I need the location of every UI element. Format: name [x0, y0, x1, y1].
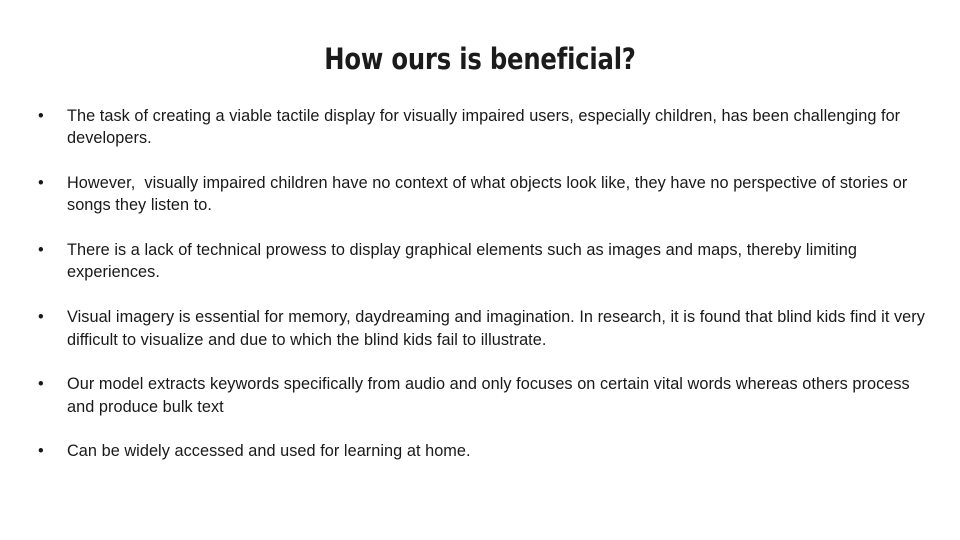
list-item: • Visual imagery is essential for memory…	[30, 306, 930, 351]
list-item-text: The task of creating a viable tactile di…	[67, 105, 930, 150]
bullet-point-icon: •	[38, 105, 52, 127]
presentation-slide: How ours is beneficial? • The task of cr…	[0, 0, 960, 540]
list-item-text: However, visually impaired children have…	[67, 172, 930, 217]
bullet-point-icon: •	[38, 239, 52, 261]
bullet-list: • The task of creating a viable tactile …	[30, 105, 930, 463]
list-item-text: There is a lack of technical prowess to …	[67, 239, 930, 284]
list-item: • Can be widely accessed and used for le…	[30, 440, 930, 462]
bullet-point-icon: •	[38, 172, 52, 194]
list-item: • The task of creating a viable tactile …	[30, 105, 930, 150]
bullet-point-icon: •	[38, 306, 52, 328]
list-item: • However, visually impaired children ha…	[30, 172, 930, 217]
list-item-text: Our model extracts keywords specifically…	[67, 373, 930, 418]
list-item: • Our model extracts keywords specifical…	[30, 373, 930, 418]
list-item: • There is a lack of technical prowess t…	[30, 239, 930, 284]
bullet-point-icon: •	[38, 373, 52, 395]
list-item-text: Visual imagery is essential for memory, …	[67, 306, 930, 351]
page-title: How ours is beneficial?	[34, 41, 927, 77]
list-item-text: Can be widely accessed and used for lear…	[67, 440, 930, 462]
bullet-point-icon: •	[38, 440, 52, 462]
